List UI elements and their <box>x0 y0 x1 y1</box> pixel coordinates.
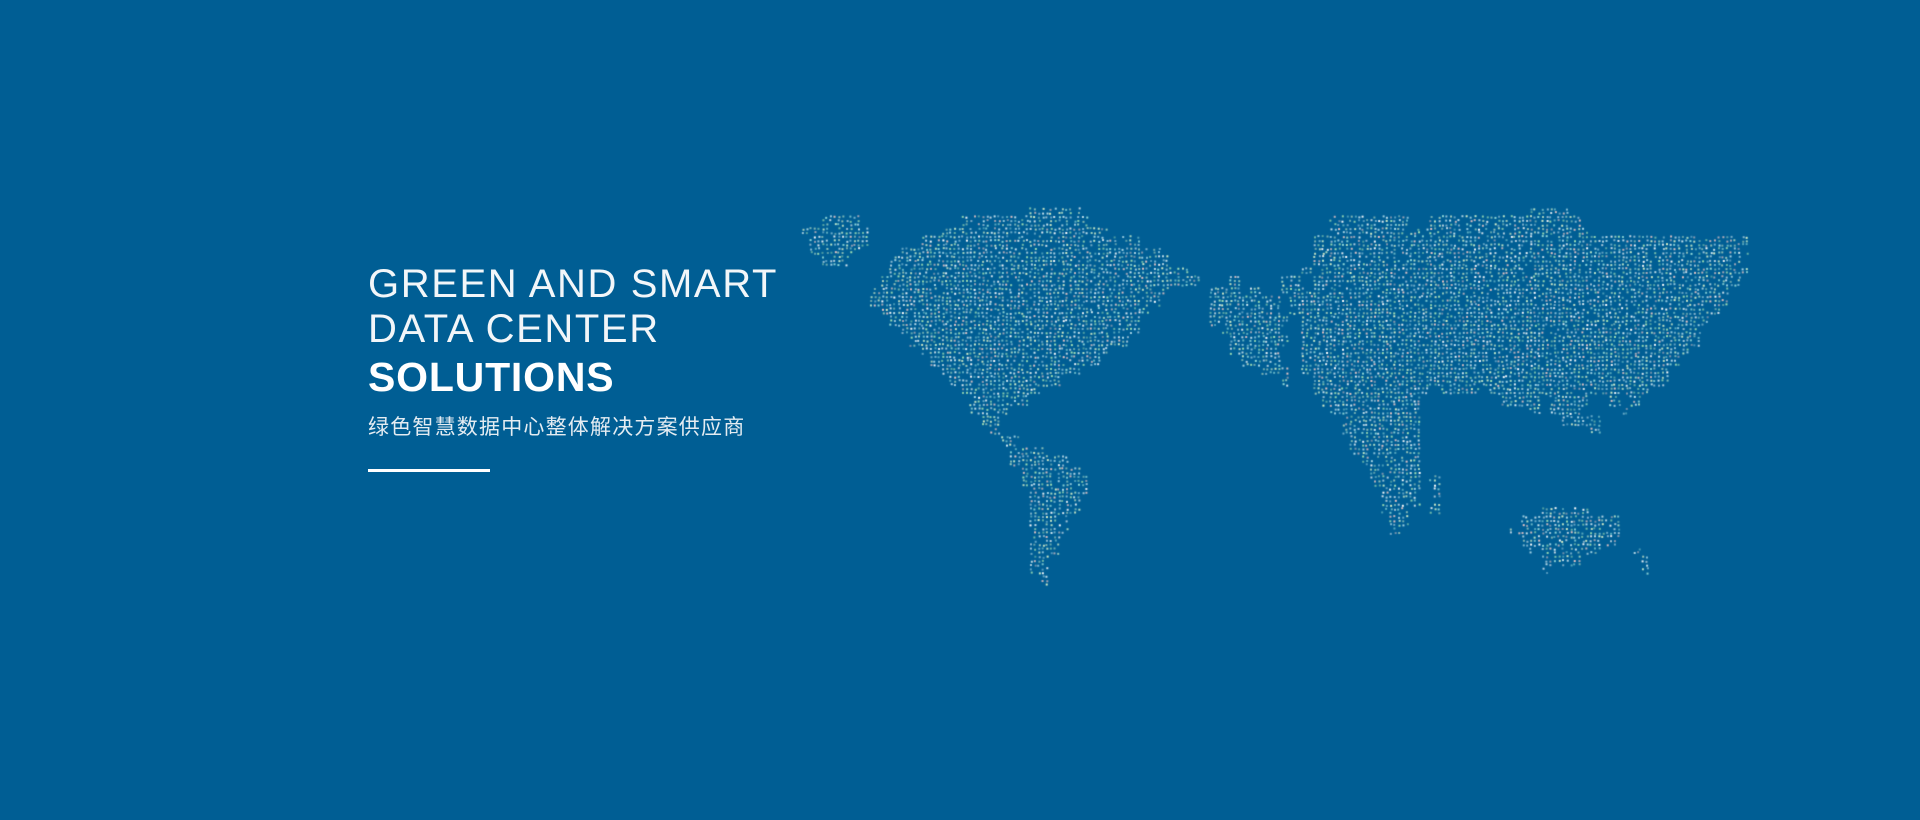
headline-line-3: SOLUTIONS <box>368 352 1088 402</box>
hero-subtitle: 绿色智慧数据中心整体解决方案供应商 <box>368 414 1088 442</box>
headline-line-2: DATA CENTER <box>368 307 1088 352</box>
hero-divider <box>368 469 490 472</box>
hero-text-block: GREEN AND SMART DATA CENTER SOLUTIONS 绿色… <box>368 262 1088 472</box>
headline-line-1: GREEN AND SMART <box>368 262 1088 307</box>
hero-banner: GREEN AND SMART DATA CENTER SOLUTIONS 绿色… <box>0 0 1920 820</box>
